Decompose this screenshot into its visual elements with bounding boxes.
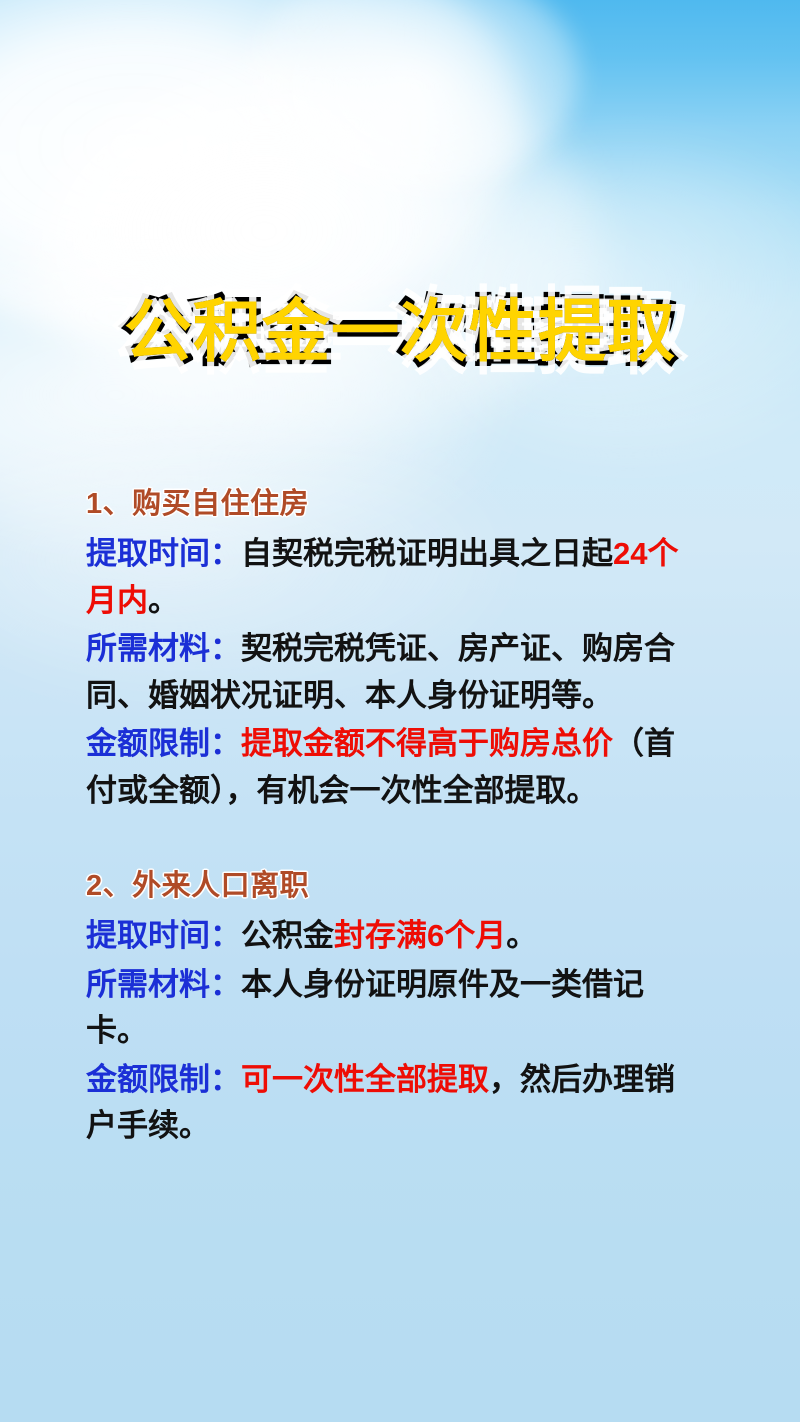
section-heading: 1、购买自住住房 — [86, 486, 696, 523]
field-label: 所需材料： — [86, 967, 241, 1002]
content-section: 1、购买自住住房提取时间：自契税完税证明出具之日起24个月内。所需材料：契税完税… — [86, 486, 696, 814]
cloud-shape — [0, 0, 520, 340]
content-section: 2、外来人口离职提取时间：公积金封存满6个月。所需材料：本人身份证明原件及一类借… — [86, 868, 696, 1150]
field-text: 。 — [148, 583, 179, 618]
field-label: 金额限制： — [86, 1062, 241, 1097]
content-body: 1、购买自住住房提取时间：自契税完税证明出具之日起24个月内。所需材料：契税完税… — [86, 486, 696, 1150]
cloud-shape — [250, 0, 580, 190]
field-highlight-text: 提取金额不得高于购房总价 — [241, 726, 613, 761]
title-area: 公积金一次性提取 — [0, 296, 800, 369]
section-heading: 2、外来人口离职 — [86, 868, 696, 905]
field-text: 。 — [506, 918, 537, 953]
poster-canvas: 公积金一次性提取 1、购买自住住房提取时间：自契税完税证明出具之日起24个月内。… — [0, 0, 800, 1422]
field-row: 金额限制：可一次性全部提取，然后办理销户手续。 — [86, 1057, 696, 1150]
field-label: 所需材料： — [86, 631, 241, 666]
field-row: 提取时间：自契税完税证明出具之日起24个月内。 — [86, 531, 696, 624]
field-label: 金额限制： — [86, 726, 241, 761]
field-highlight-text: 封存满6个月 — [334, 918, 506, 953]
page-title: 公积金一次性提取 — [124, 296, 676, 369]
field-text: 自契税完税证明出具之日起 — [241, 536, 613, 571]
field-row: 所需材料：本人身份证明原件及一类借记卡。 — [86, 962, 696, 1055]
field-row: 所需材料：契税完税凭证、房产证、购房合同、婚姻状况证明、本人身份证明等。 — [86, 626, 696, 719]
field-label: 提取时间： — [86, 918, 241, 953]
field-label: 提取时间： — [86, 536, 241, 571]
field-highlight-text: 可一次性全部提取 — [241, 1062, 489, 1097]
field-row: 金额限制：提取金额不得高于购房总价（首付或全额），有机会一次性全部提取。 — [86, 721, 696, 814]
field-row: 提取时间：公积金封存满6个月。 — [86, 913, 696, 960]
cloud-shape — [40, 60, 600, 440]
field-text: 公积金 — [241, 918, 334, 953]
